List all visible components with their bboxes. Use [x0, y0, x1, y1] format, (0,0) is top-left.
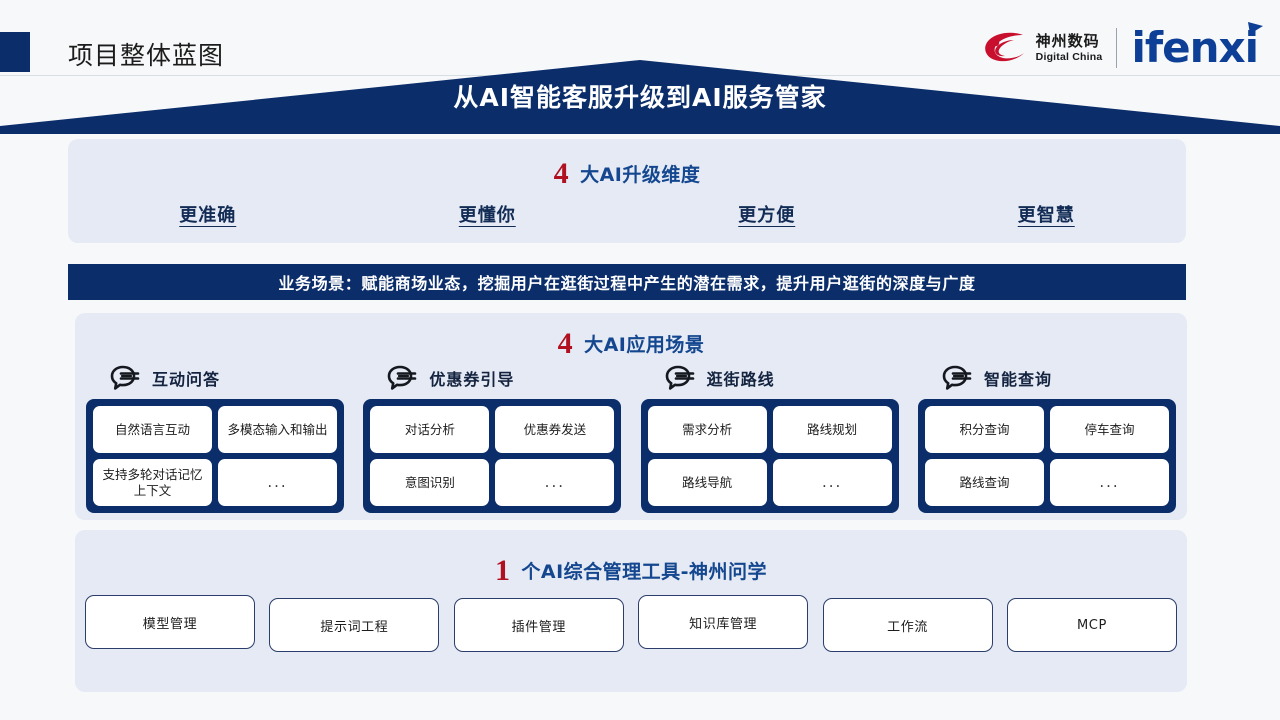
- scenario-cell-0-0[interactable]: 自然语言互动: [93, 406, 212, 453]
- scenario-cell-2-1[interactable]: 路线规划: [773, 406, 892, 453]
- scenario-cell-2-3[interactable]: ...: [773, 459, 892, 506]
- tool-box-knowledge-base-management[interactable]: 知识库管理: [638, 595, 808, 649]
- dimension-item-1[interactable]: 更懂你: [348, 201, 628, 227]
- scenario-cell-3-3[interactable]: ...: [1050, 459, 1169, 506]
- hero-title: 从AI智能客服升级到AI服务管家: [0, 78, 1280, 114]
- tool-box-mcp[interactable]: MCP: [1007, 598, 1177, 652]
- dimension-item-3[interactable]: 更智慧: [907, 201, 1187, 227]
- scenario-cell-0-3[interactable]: ...: [218, 459, 337, 506]
- dimensions-count: 4: [554, 157, 569, 190]
- dimension-item-2[interactable]: 更方便: [627, 201, 907, 227]
- tool-box-plugin-management[interactable]: 插件管理: [454, 598, 624, 652]
- tools-row: 模型管理 提示词工程 插件管理 知识库管理 工作流 MCP: [75, 598, 1187, 652]
- dimensions-label: 大AI升级维度: [580, 164, 700, 186]
- dimensions-panel: 4 大AI升级维度 更准确 更懂你 更方便 更智慧: [68, 139, 1186, 243]
- scenario-cell-3-2[interactable]: 路线查询: [925, 459, 1044, 506]
- scenario-cell-2-2[interactable]: 路线导航: [648, 459, 767, 506]
- tools-count: 1: [495, 554, 510, 587]
- scenario-column-0: 互动问答 自然语言互动 多模态输入和输出 支持多轮对话记忆上下文 ...: [86, 361, 344, 513]
- scenarios-row: 互动问答 自然语言互动 多模态输入和输出 支持多轮对话记忆上下文 ...: [75, 361, 1187, 513]
- ifenxi-flag-icon: [1246, 21, 1264, 37]
- chat-bubble-icon: [942, 365, 972, 391]
- scenario-card-0: 自然语言互动 多模态输入和输出 支持多轮对话记忆上下文 ...: [86, 399, 344, 513]
- scenario-card-2: 需求分析 路线规划 路线导航 ...: [641, 399, 899, 513]
- scenarios-label: 大AI应用场景: [584, 334, 704, 356]
- scenario-cell-1-0[interactable]: 对话分析: [370, 406, 489, 453]
- scenario-cell-3-0[interactable]: 积分查询: [925, 406, 1044, 453]
- scenario-name-1: 优惠券引导: [429, 366, 514, 390]
- scenario-cell-1-3[interactable]: ...: [495, 459, 614, 506]
- tool-box-model-management[interactable]: 模型管理: [85, 595, 255, 649]
- tool-box-workflow[interactable]: 工作流: [823, 598, 993, 652]
- chat-bubble-icon: [387, 365, 417, 391]
- slide-root: 项目整体蓝图 神州数码 Digital China ifenxi: [0, 0, 1280, 720]
- scenario-cell-1-1[interactable]: 优惠券发送: [495, 406, 614, 453]
- scenario-cell-1-2[interactable]: 意图识别: [370, 459, 489, 506]
- chat-bubble-icon: [665, 365, 695, 391]
- dimensions-list: 更准确 更懂你 更方便 更智慧: [68, 201, 1186, 227]
- tools-heading: 1 个AI综合管理工具-神州问学: [75, 554, 1187, 588]
- scenario-card-3: 积分查询 停车查询 路线查询 ...: [918, 399, 1176, 513]
- scenario-cell-2-0[interactable]: 需求分析: [648, 406, 767, 453]
- scenario-column-2: 逛街路线 需求分析 路线规划 路线导航 ...: [641, 361, 899, 513]
- scenario-name-0: 互动问答: [152, 366, 220, 390]
- scenario-column-3: 智能查询 积分查询 停车查询 路线查询 ...: [918, 361, 1176, 513]
- scenario-column-1: 优惠券引导 对话分析 优惠券发送 意图识别 ...: [363, 361, 621, 513]
- tools-label: 个AI综合管理工具-神州问学: [521, 561, 767, 583]
- chat-bubble-icon: [110, 365, 140, 391]
- scenarios-count: 4: [558, 327, 573, 360]
- scenario-header-1: 优惠券引导: [363, 361, 621, 395]
- scenarios-heading: 4 大AI应用场景: [75, 327, 1187, 361]
- tool-box-prompt-engineering[interactable]: 提示词工程: [269, 598, 439, 652]
- tools-panel: 1 个AI综合管理工具-神州问学 模型管理 提示词工程 插件管理 知识库管理 工…: [75, 530, 1187, 692]
- scenario-header-3: 智能查询: [918, 361, 1176, 395]
- digital-china-cn: 神州数码: [1036, 34, 1103, 49]
- scenario-name-2: 逛街路线: [707, 366, 775, 390]
- scenario-card-1: 对话分析 优惠券发送 意图识别 ...: [363, 399, 621, 513]
- dimensions-heading: 4 大AI升级维度: [68, 157, 1186, 191]
- scenario-header-2: 逛街路线: [641, 361, 899, 395]
- scenario-header-0: 互动问答: [86, 361, 344, 395]
- scenario-name-3: 智能查询: [984, 366, 1052, 390]
- business-scenario-text: 业务场景：赋能商场业态，挖掘用户在逛街过程中产生的潜在需求，提升用户逛街的深度与…: [278, 270, 975, 294]
- scenario-cell-0-2[interactable]: 支持多轮对话记忆上下文: [93, 459, 212, 506]
- scenario-cell-0-1[interactable]: 多模态输入和输出: [218, 406, 337, 453]
- scenarios-panel: 4 大AI应用场景 互动问答 自然语言互动 多模态输入和输出: [75, 313, 1187, 520]
- business-scenario-bar: 业务场景：赋能商场业态，挖掘用户在逛街过程中产生的潜在需求，提升用户逛街的深度与…: [68, 264, 1186, 300]
- dimension-item-0[interactable]: 更准确: [68, 201, 348, 227]
- scenario-cell-3-1[interactable]: 停车查询: [1050, 406, 1169, 453]
